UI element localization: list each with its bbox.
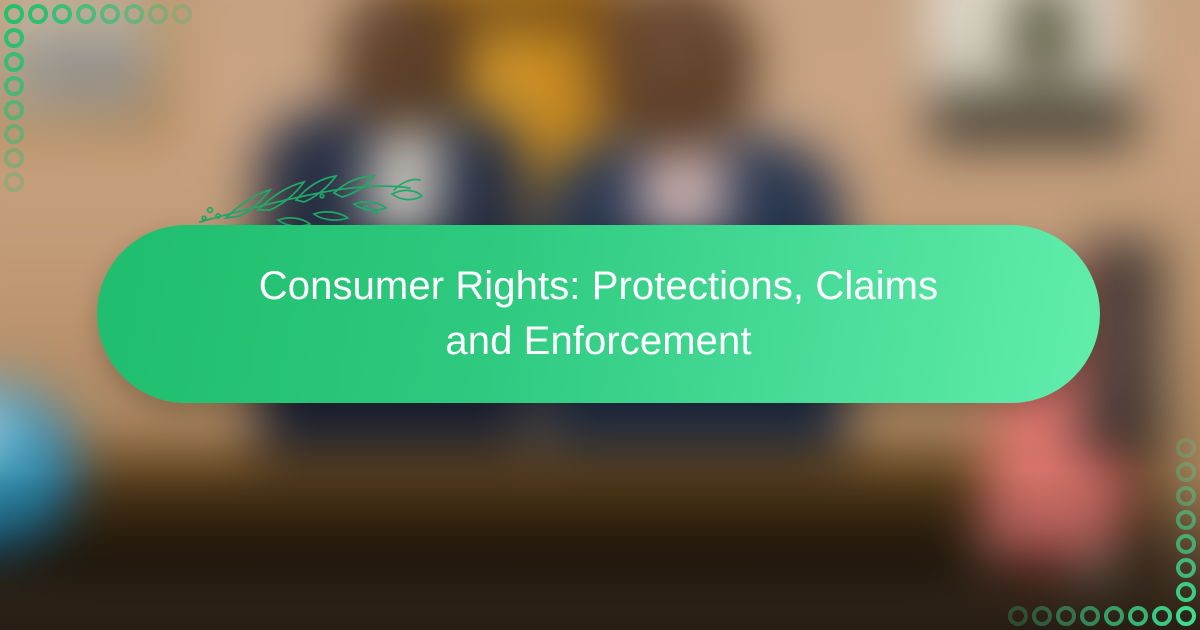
credenza (928, 90, 1136, 146)
page-title: Consumer Rights: Protections, Claims and… (234, 259, 964, 369)
dot-grid-top-left (0, 0, 210, 210)
title-pill: Consumer Rights: Protections, Claims and… (97, 225, 1100, 403)
person-left-head (338, 0, 470, 132)
social-card: Consumer Rights: Protections, Claims and… (0, 0, 1200, 630)
dot-grid-bottom-right (990, 420, 1200, 630)
framed-picture-right-art (1012, 0, 1074, 78)
